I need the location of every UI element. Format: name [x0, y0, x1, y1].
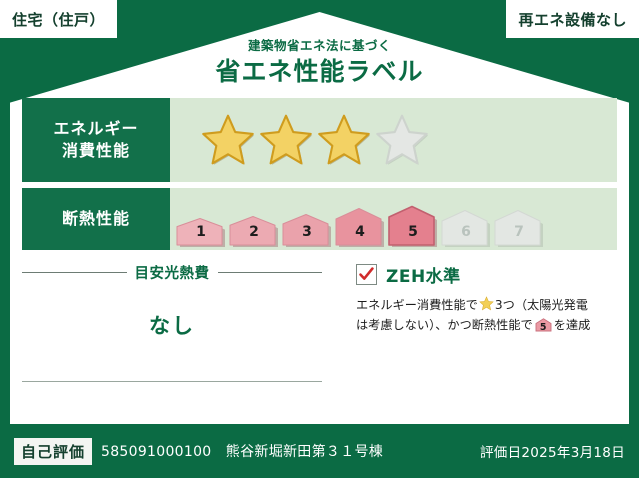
energy-performance-row: エネルギー 消費性能 [22, 98, 617, 182]
building-type-tag-label: 住宅（住戸） [12, 9, 105, 30]
insulation-level-6: 6 [441, 209, 491, 247]
utility-cost-header: 目安光熱費 [22, 262, 322, 283]
inline-insulation-level: 5 [535, 323, 552, 333]
energy-label-line1: エネルギー [53, 119, 138, 138]
heading-title: 省エネ性能ラベル [0, 56, 639, 87]
utility-cost-rule-right [218, 272, 323, 273]
building-type-tag: 住宅（住戸） [0, 0, 117, 38]
heading-subtitle: 建築物省エネ法に基づく [0, 38, 639, 53]
insulation-level-number: 6 [441, 224, 491, 240]
insulation-level-number: 5 [388, 224, 438, 240]
zeh-header: ZEH水準 [356, 262, 617, 287]
energy-performance-value [170, 98, 617, 182]
star-icon [479, 296, 494, 311]
insulation-level-number: 1 [176, 224, 226, 240]
star-icon-empty [374, 112, 430, 168]
label-heading: 建築物省エネ法に基づく 省エネ性能ラベル [0, 38, 639, 87]
insulation-level-3: 3 [282, 213, 332, 247]
energy-performance-label: エネルギー 消費性能 [22, 98, 170, 182]
star-rating [170, 112, 430, 168]
insulation-level-1: 1 [176, 217, 226, 247]
insulation-level-number: 7 [494, 224, 544, 240]
insulation-level-4: 4 [335, 207, 385, 247]
label-footer: 自己評価 585091000100 熊谷新堀新田第３１号棟 評価日2025年3月… [0, 424, 639, 478]
insulation-level-7: 7 [494, 209, 544, 247]
utility-cost-rule-left [22, 272, 127, 273]
insulation-level-number: 4 [335, 224, 385, 240]
zeh-desc-part2: は考慮しない）、かつ断熱性能で [356, 318, 533, 332]
zeh-desc-star-count: 3つ（太陽光発電 [495, 298, 588, 312]
inline-insulation-house: 5 [535, 318, 552, 332]
evaluation-type-badge: 自己評価 [14, 438, 92, 465]
renewable-energy-tag: 再エネ設備なし [506, 0, 639, 38]
utility-cost-section: 目安光熱費 なし [22, 258, 322, 390]
zeh-title: ZEH水準 [386, 262, 461, 287]
evaluation-date-text: 評価日2025年3月18日 [480, 441, 625, 461]
insulation-level-number: 3 [282, 224, 332, 240]
utility-cost-value: なし [22, 310, 322, 340]
insulation-level-2: 2 [229, 215, 279, 247]
zeh-desc-part3: を達成 [554, 318, 591, 332]
label-lower-section: 目安光熱費 なし ZEH水準 エネルギー消費性能で3つ（太陽光発電は考慮しな [22, 258, 617, 390]
energy-label-line2: 消費性能 [62, 141, 130, 160]
star-icon-filled [258, 112, 314, 168]
star-icon-filled [316, 112, 372, 168]
zeh-checkbox[interactable] [356, 264, 377, 285]
utility-cost-title: 目安光熱費 [135, 262, 210, 283]
insulation-level-5: 5 [388, 205, 438, 247]
label-content-panel: エネルギー 消費性能 断熱性能 1234567 目安光熱費 [22, 98, 617, 404]
renewable-energy-tag-label: 再エネ設備なし [518, 9, 627, 30]
zeh-section: ZEH水準 エネルギー消費性能で3つ（太陽光発電は考慮しない）、かつ断熱性能で5… [322, 258, 617, 390]
insulation-performance-label: 断熱性能 [22, 188, 170, 250]
utility-cost-bottom-rule [22, 381, 322, 382]
insulation-performance-value: 1234567 [170, 188, 617, 250]
insulation-label-text: 断熱性能 [62, 208, 130, 230]
building-id-text: 585091000100 熊谷新堀新田第３１号棟 [101, 441, 383, 461]
checkmark-icon [358, 266, 375, 283]
insulation-level-number: 2 [229, 224, 279, 240]
energy-label-card: 住宅（住戸） 再エネ設備なし 建築物省エネ法に基づく 省エネ性能ラベル エネルギ… [0, 0, 639, 478]
zeh-description: エネルギー消費性能で3つ（太陽光発電は考慮しない）、かつ断熱性能で5を達成 [356, 295, 617, 335]
zeh-desc-part1: エネルギー消費性能で [356, 298, 478, 312]
star-icon-filled [200, 112, 256, 168]
insulation-scale: 1234567 [170, 185, 544, 253]
insulation-performance-row: 断熱性能 1234567 [22, 188, 617, 250]
